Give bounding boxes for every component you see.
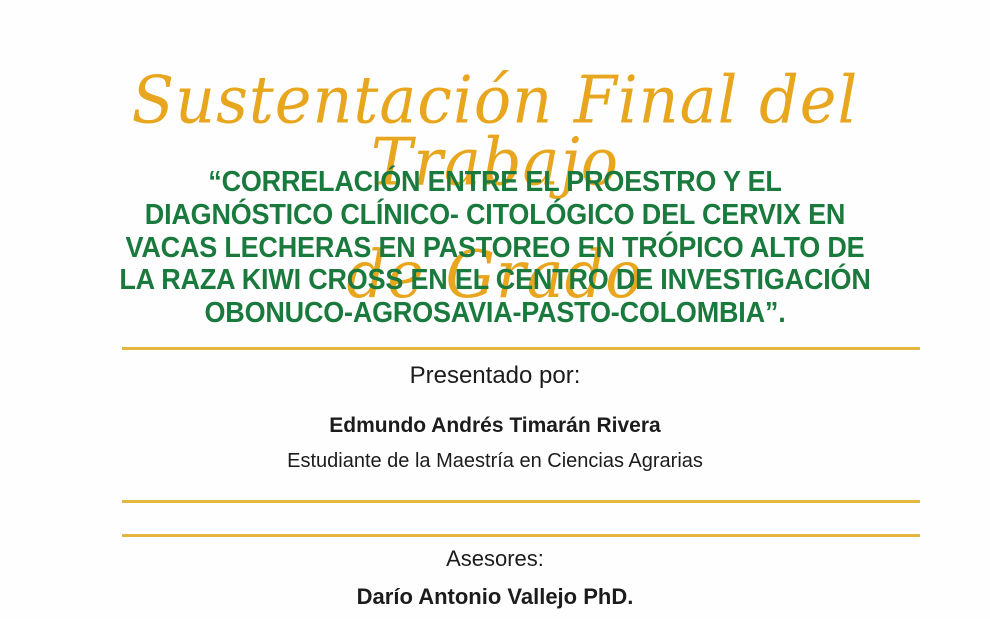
- presenter-name: Edmundo Andrés Timarán Rivera: [0, 414, 990, 438]
- advisors-label: Asesores:: [0, 546, 990, 572]
- thesis-title: “CORRELACIÓN ENTRE EL PROESTRO Y EL DIAG…: [0, 166, 990, 330]
- divider-rule-top: [122, 347, 920, 350]
- presentation-slide: Sustentación Final del Trabajo de Grado …: [0, 0, 990, 619]
- thesis-title-line-2: DIAGNÓSTICO CLÍNICO- CITOLÓGICO DEL CERV…: [35, 199, 956, 232]
- thesis-title-line-1: “CORRELACIÓN ENTRE EL PROESTRO Y EL: [35, 166, 956, 199]
- presented-by-label: Presentado por:: [0, 362, 990, 390]
- divider-rule-bottom: [122, 534, 920, 537]
- thesis-title-line-5: OBONUCO-AGROSAVIA-PASTO-COLOMBIA”.: [35, 297, 956, 330]
- advisor-name-1: Darío Antonio Vallejo PhD.: [0, 584, 990, 610]
- presenter-role: Estudiante de la Maestría en Ciencias Ag…: [0, 450, 990, 473]
- thesis-title-line-3: VACAS LECHERAS EN PASTOREO EN TRÓPICO AL…: [35, 232, 956, 265]
- divider-rule-middle: [122, 500, 920, 503]
- thesis-title-line-4: LA RAZA KIWI CROSS EN EL CENTRO DE INVES…: [35, 264, 956, 297]
